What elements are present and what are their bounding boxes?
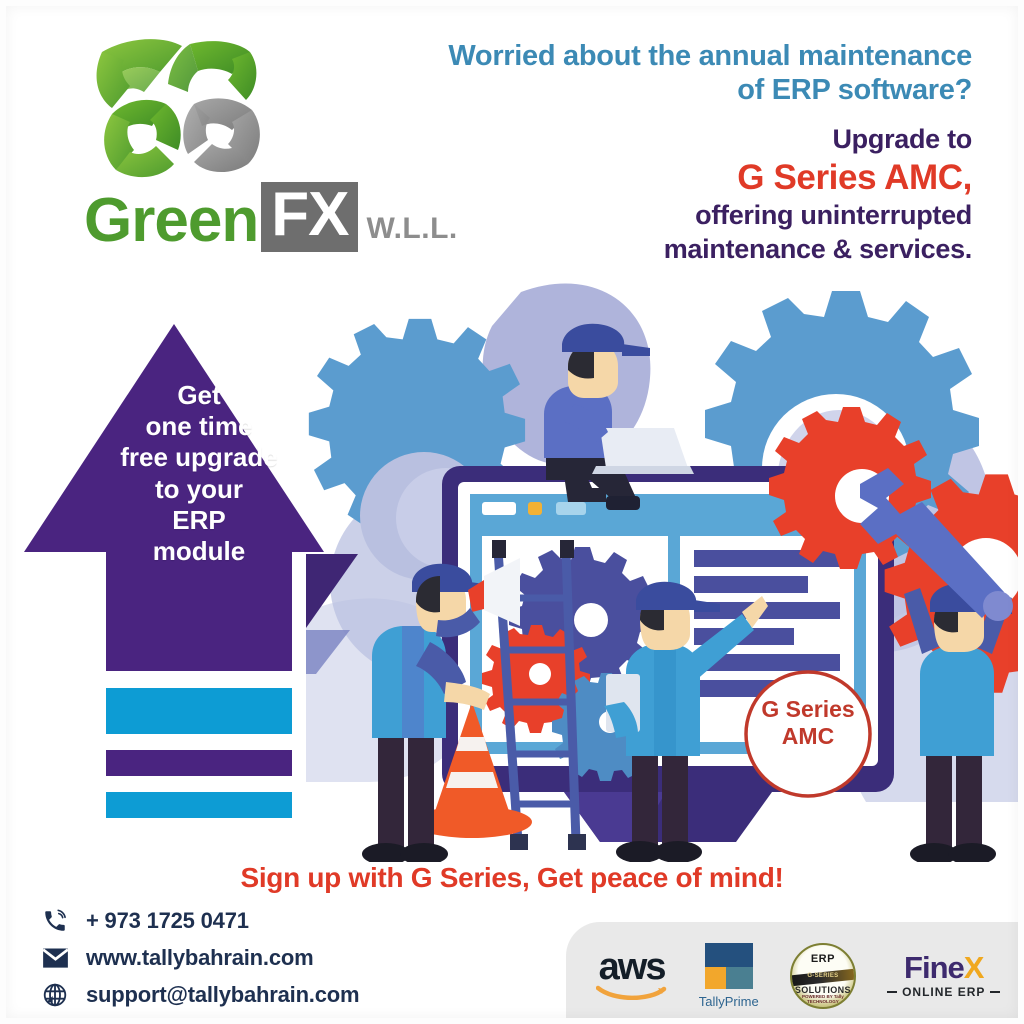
arrow-line-4: to your [106, 474, 292, 505]
seal-footer-text: POWERED BY Tally TECHNOLOGY [792, 994, 854, 1004]
contact-row-email[interactable]: support@tallybahrain.com [38, 976, 359, 1013]
tally-block-orange [705, 967, 726, 989]
logo-text-green: Green [84, 190, 258, 252]
headline-tail-line2: maintenance & services. [372, 233, 972, 265]
arrow-stem-shape [106, 551, 292, 671]
contact-block: + 973 1725 0471 www.tallybahrain.com [38, 902, 359, 1013]
website-url: www.tallybahrain.com [86, 945, 313, 971]
partner-logo-erp-seal: ERP G-SERIES SOLUTIONS POWERED BY Tally … [790, 943, 856, 1009]
arrow-bar-blue-bottom [106, 792, 292, 818]
contact-row-website[interactable]: www.tallybahrain.com [38, 939, 359, 976]
phone-icon [38, 906, 72, 936]
finex-text-fine: Fine [904, 950, 964, 985]
g-series-amc-badge-text: G Series AMC [714, 696, 902, 749]
partner-logo-finex: FineX ONLINE ERP [887, 953, 1000, 999]
hero-illustration: G Series AMC [306, 282, 1024, 862]
finex-wordmark: FineX [904, 953, 983, 982]
contact-row-phone[interactable]: + 973 1725 0471 [38, 902, 359, 939]
tallyprime-mark [705, 943, 753, 989]
headline-question-line2: of ERP software? [372, 74, 972, 108]
arrow-bar-purple-middle [106, 750, 292, 776]
arrow-line-5: ERP [106, 505, 292, 536]
tally-block-top [705, 943, 753, 967]
advertisement-poster: Green FX W.L.L. Worried about the annual… [0, 0, 1024, 1024]
finex-dash-left [887, 991, 897, 993]
aws-smile-icon [596, 984, 668, 1000]
arrow-line-3: free upgrade [106, 442, 292, 473]
badge-line-1: G Series [714, 696, 902, 723]
phone-number: + 973 1725 0471 [86, 908, 249, 934]
logo-text-fx: FX [261, 182, 358, 252]
arrow-line-1: Get [106, 380, 292, 411]
headline-question-line1: Worried about the annual maintenance [372, 40, 972, 74]
arrow-line-6: module [106, 536, 292, 567]
badge-line-2: AMC [714, 723, 902, 750]
seal-top-text: ERP [792, 953, 854, 965]
arrow-line-2: one time [106, 411, 292, 442]
tally-block-teal [726, 967, 753, 989]
aws-wordmark: aws [599, 952, 665, 983]
headline-block: Worried about the annual maintenance of … [372, 40, 972, 266]
email-address: support@tallybahrain.com [86, 982, 359, 1008]
erp-solutions-seal: ERP G-SERIES SOLUTIONS POWERED BY Tally … [790, 943, 856, 1009]
arrow-bar-blue-top [106, 688, 292, 734]
envelope-icon [38, 943, 72, 973]
tallyprime-wordmark: TallyPrime [699, 994, 759, 1009]
globe-icon [38, 980, 72, 1010]
headline-tail-line1: offering uninterrupted [372, 199, 972, 231]
finex-dash-right [990, 991, 1000, 993]
finex-subtitle: ONLINE ERP [887, 985, 1000, 999]
greenfx-logo-mark [90, 34, 280, 184]
finex-text-x: X [964, 950, 984, 985]
partner-logo-tallyprime: TallyPrime [699, 943, 759, 1009]
seal-middle-text: G-SERIES [792, 973, 854, 979]
arrow-callout-text: Get one time free upgrade to your ERP mo… [106, 380, 292, 567]
headline-product-name: G Series AMC, [372, 158, 972, 197]
partner-logo-aws: aws [596, 952, 668, 1000]
headline-upgrade-label: Upgrade to [372, 123, 972, 155]
partner-logo-strip: aws TallyPrime ERP G-SERIES SOLUTIONS PO… [566, 922, 1024, 1024]
tagline: Sign up with G Series, Get peace of mind… [6, 862, 1018, 894]
finex-subtitle-text: ONLINE ERP [902, 985, 985, 999]
upgrade-arrow-callout: Get one time free upgrade to your ERP mo… [24, 324, 324, 814]
